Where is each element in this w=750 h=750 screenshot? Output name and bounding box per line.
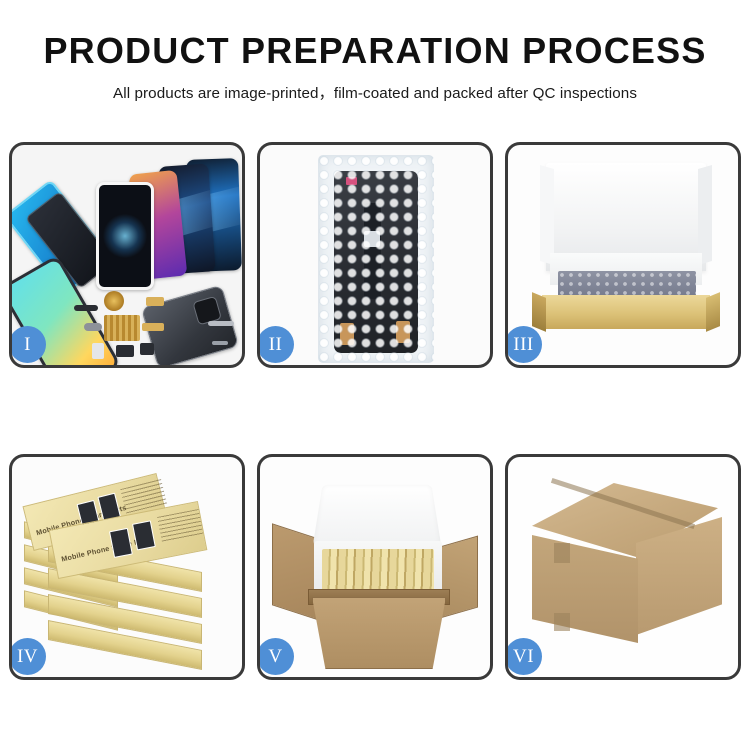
lcd-flex-cable — [364, 203, 381, 299]
part-speaker — [74, 305, 98, 311]
pink-qc-label — [346, 177, 357, 185]
step-panel-1[interactable]: I — [9, 142, 245, 368]
foam-box-lid — [313, 485, 442, 547]
step-badge-4: IV — [12, 638, 46, 675]
phone-screen-2 — [96, 182, 154, 290]
step-badge-5: V — [260, 638, 294, 675]
box-spec-lines-front — [157, 509, 203, 543]
step-panel-3[interactable]: III — [505, 142, 741, 368]
part-camera — [116, 345, 134, 357]
part-flex-cable — [84, 323, 102, 331]
step-image-1: I — [12, 145, 242, 365]
box-screen-art-f1 — [109, 528, 133, 558]
step-panel-6[interactable]: VI — [505, 454, 741, 680]
step-badge-2: II — [260, 326, 294, 363]
step-panel-2[interactable]: II — [257, 142, 493, 368]
box-screen-art-f2 — [132, 520, 156, 550]
step-panel-4[interactable]: Mobile Phone Spare Parts Mobile Phone Sp… — [9, 454, 245, 680]
page-header: PRODUCT PREPARATION PROCESS All products… — [0, 0, 750, 103]
part-logic-board — [104, 315, 140, 341]
part-vibrator — [140, 343, 154, 355]
carton-tape-lower — [554, 613, 570, 631]
kraft-box-tray — [542, 295, 710, 329]
carton-body — [312, 597, 446, 669]
step-image-3: III — [508, 145, 738, 365]
part-sim-tray — [92, 343, 104, 359]
step-badge-6: VI — [508, 638, 542, 675]
part-screw-set — [212, 341, 228, 345]
lcd-driver-chip — [364, 231, 380, 247]
lcd-tab-right — [396, 321, 410, 343]
part-connector-2 — [142, 323, 164, 331]
part-coil — [104, 291, 124, 311]
page-subtitle: All products are image-printed，film-coat… — [0, 81, 750, 103]
lcd-tab-left — [340, 323, 354, 345]
step-image-6: VI — [508, 457, 738, 677]
step-image-4: Mobile Phone Spare Parts Mobile Phone Sp… — [12, 457, 242, 677]
gold-boxes-inside — [322, 549, 434, 591]
step-image-2: II — [260, 145, 490, 365]
process-steps-grid: I II III — [9, 142, 741, 680]
step-badge-3: III — [508, 326, 542, 363]
step-image-5: V — [260, 457, 490, 677]
step-panel-5[interactable]: V — [257, 454, 493, 680]
carton-tape-upper — [554, 543, 570, 563]
page-title: PRODUCT PREPARATION PROCESS — [0, 32, 750, 70]
part-connector-1 — [146, 297, 164, 306]
part-screwdriver — [208, 321, 234, 326]
